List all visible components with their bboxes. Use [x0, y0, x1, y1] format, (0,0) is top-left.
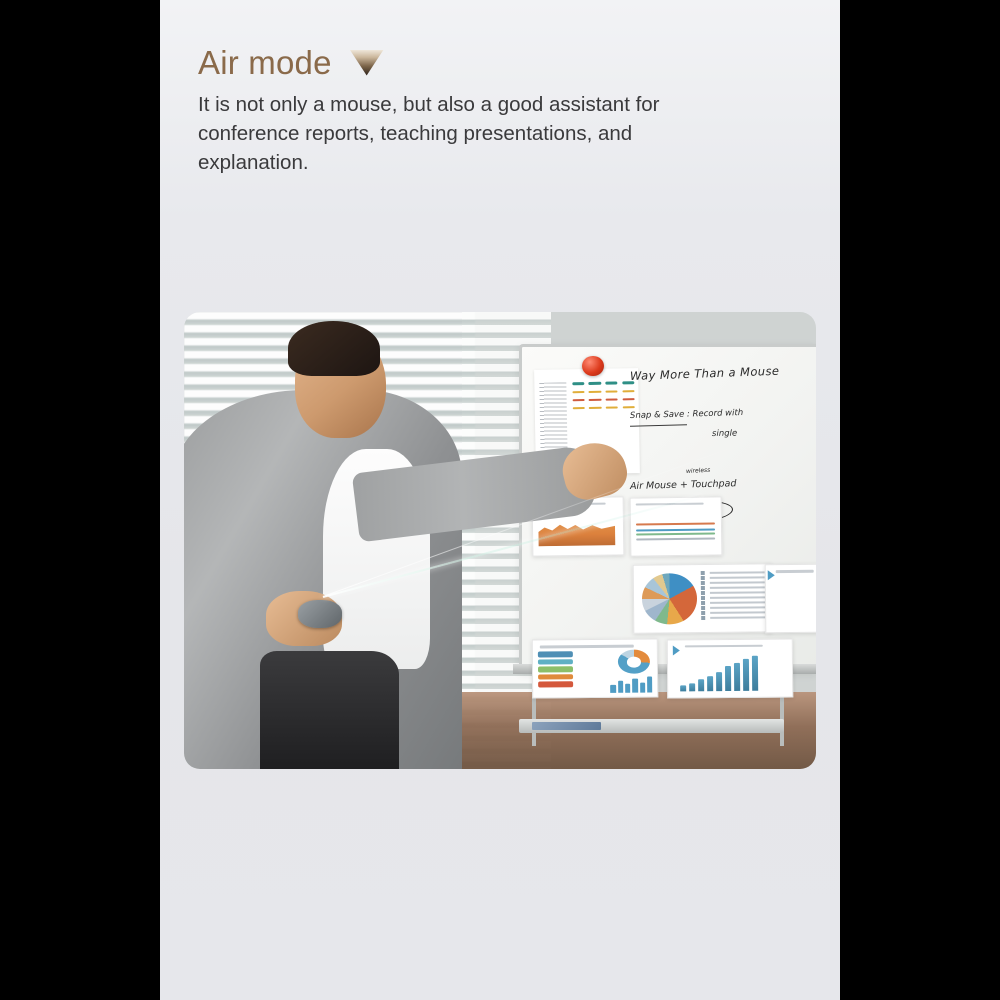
whiteboard-tray-label — [532, 722, 602, 730]
edge-slide — [765, 563, 816, 632]
presenter-hair — [288, 321, 380, 376]
presenter-device — [298, 600, 342, 627]
whiteboard-text-single: single — [712, 428, 737, 438]
presenter-trousers — [260, 651, 399, 770]
pie-chart-slide — [632, 563, 772, 633]
page-title: Air mode — [198, 46, 332, 79]
hero-image-laser-pointer: Way More Than a Mouse Snap & Save : Reco… — [184, 312, 816, 769]
header-block: Air mode It is not only a mouse, but als… — [198, 46, 808, 177]
line-chart-slide — [629, 497, 721, 558]
red-magnet — [582, 356, 603, 376]
content-panel: Air mode It is not only a mouse, but als… — [160, 0, 840, 1000]
dashboard-slide — [531, 639, 658, 700]
page-subtitle: It is not only a mouse, but also a good … — [198, 90, 743, 177]
whiteboard-text-wireless: wireless — [686, 466, 711, 474]
down-triangle-icon — [350, 50, 384, 76]
screenshot-stage: Air mode It is not only a mouse, but als… — [0, 0, 1000, 1000]
bar-chart-slide — [667, 639, 794, 700]
title-row: Air mode — [198, 46, 808, 79]
